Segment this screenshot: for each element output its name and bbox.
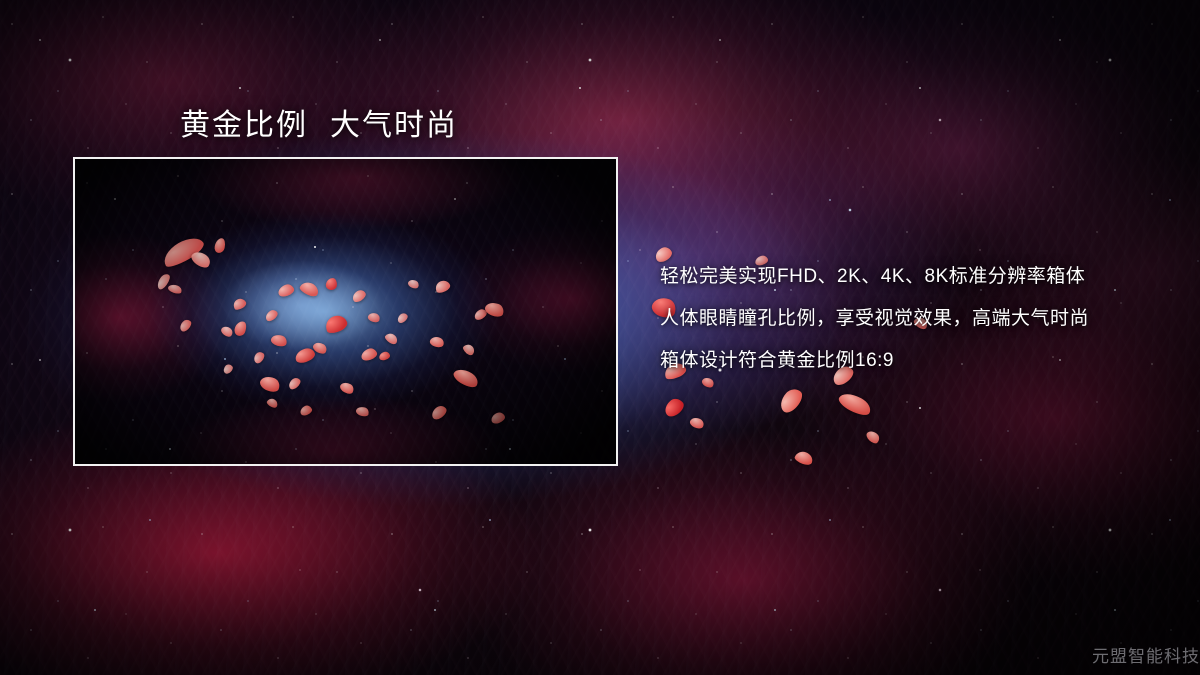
company-watermark: 元盟智能科技 <box>1092 642 1200 667</box>
feature-description-block: 轻松完美实现FHD、2K、4K、8K标准分辨率箱体 人体眼睛瞳孔比例，享受视觉效… <box>660 256 1089 382</box>
image-frame-panel <box>73 157 618 466</box>
page-title: 黄金比例大气时尚 <box>180 100 458 144</box>
page-title-part-one: 黄金比例 <box>180 109 308 142</box>
presentation-slide: 黄金比例大气时尚 轻松完美实现FHD、2K、4K、8K标准分辨率箱体 人体眼睛瞳… <box>0 0 1200 675</box>
page-title-part-two: 大气时尚 <box>330 109 458 142</box>
description-line-1: 轻松完美实现FHD、2K、4K、8K标准分辨率箱体 <box>660 256 1089 298</box>
description-line-3: 箱体设计符合黄金比例16:9 <box>660 340 1089 382</box>
description-line-2: 人体眼睛瞳孔比例，享受视觉效果，高端大气时尚 <box>660 298 1089 340</box>
frame-vignette <box>75 159 616 464</box>
